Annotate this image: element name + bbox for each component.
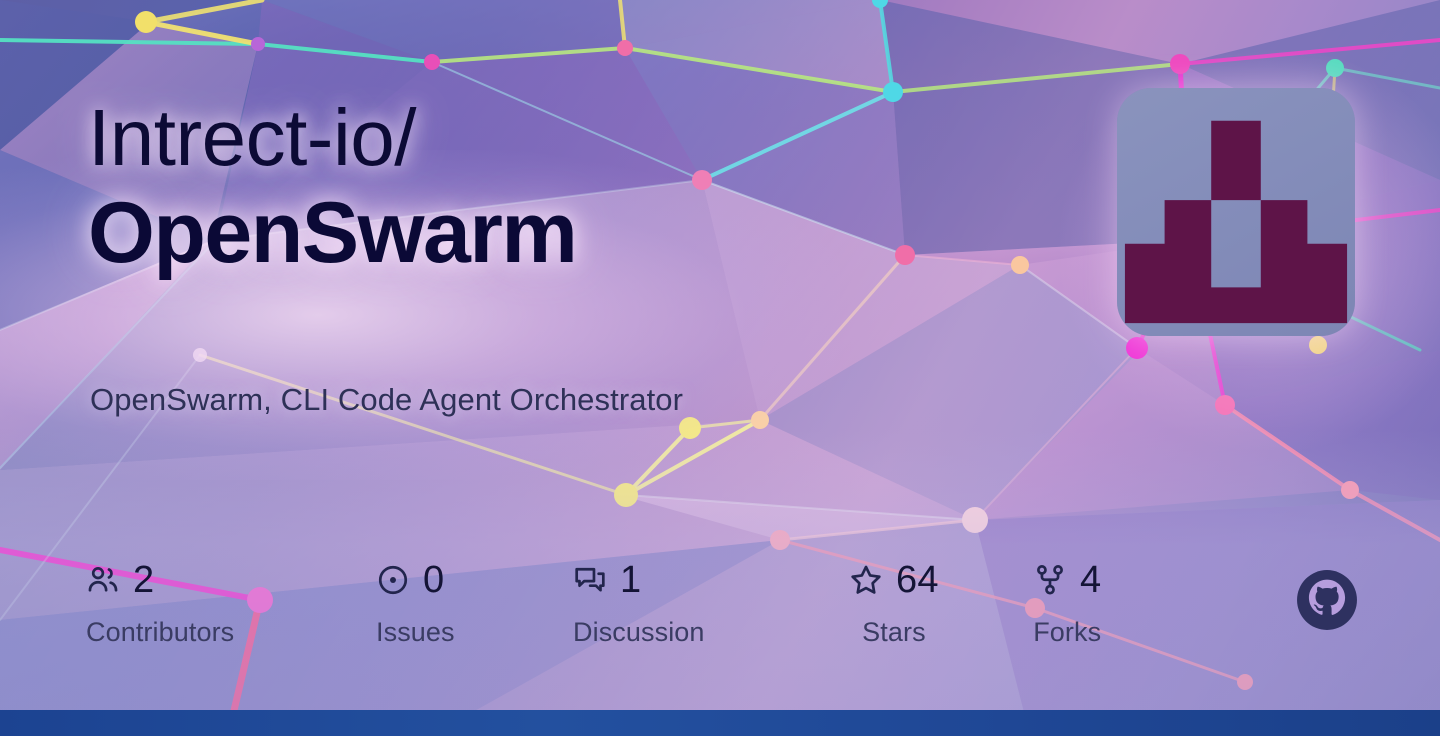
star-icon bbox=[849, 563, 883, 597]
stat-stars[interactable]: 64 Stars bbox=[849, 558, 939, 648]
stat-discussion[interactable]: 1 Discussion bbox=[573, 558, 705, 648]
people-icon bbox=[86, 563, 120, 597]
stat-label: Discussion bbox=[573, 617, 705, 648]
repository-social-card: Intrect-io/ OpenSwarm OpenSwarm, CLI Cod… bbox=[0, 0, 1440, 736]
repo-stats: 2 Contributors 0 Issues bbox=[86, 558, 1266, 658]
bottom-accent-bar bbox=[0, 710, 1440, 736]
openswarm-pyramid-logo bbox=[1117, 88, 1355, 336]
github-octocat-icon[interactable] bbox=[1296, 569, 1358, 631]
repo-name: OpenSwarm bbox=[88, 188, 576, 279]
stat-contributors[interactable]: 2 Contributors bbox=[86, 558, 234, 648]
stat-value: 4 bbox=[1080, 561, 1101, 599]
stat-label: Issues bbox=[376, 617, 455, 648]
repo-owner: Intrect-io/ bbox=[88, 98, 576, 178]
stat-label: Stars bbox=[849, 617, 939, 648]
stat-value: 64 bbox=[896, 561, 939, 599]
stat-value: 2 bbox=[133, 561, 154, 599]
issue-circle-dot-icon bbox=[376, 563, 410, 597]
comment-discussion-icon bbox=[573, 563, 607, 597]
stat-value: 1 bbox=[620, 561, 641, 599]
stat-label: Forks bbox=[1033, 617, 1101, 648]
page-title: Intrect-io/ OpenSwarm bbox=[88, 98, 576, 279]
repo-forked-icon bbox=[1033, 563, 1067, 597]
stat-forks[interactable]: 4 Forks bbox=[1033, 558, 1101, 648]
stat-label: Contributors bbox=[86, 617, 234, 648]
stat-value: 0 bbox=[423, 561, 444, 599]
stat-issues[interactable]: 0 Issues bbox=[376, 558, 455, 648]
repo-description: OpenSwarm, CLI Code Agent Orchestrator bbox=[90, 382, 683, 418]
